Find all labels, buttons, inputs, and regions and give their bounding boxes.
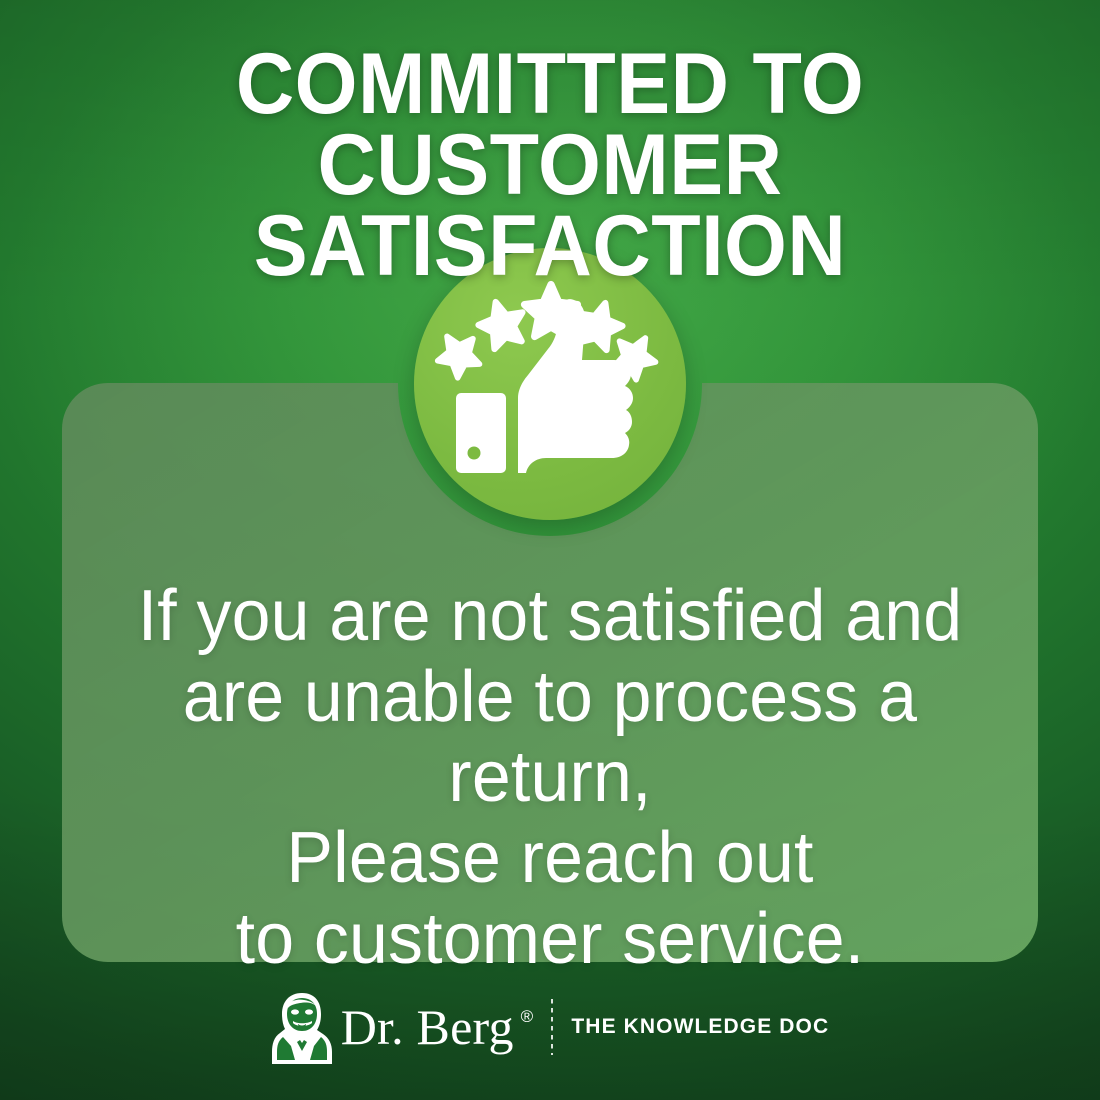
brand-name: Dr. Berg ® [341,1002,534,1052]
message-line-2: are unable to process a return, [84,657,1015,818]
poster-canvas: COMMITTED TO CUSTOMER SATISFACTION [0,0,1100,1100]
footer-divider [551,999,553,1055]
message-line-3: Please reach out [84,818,1015,899]
brand-name-text: Dr. Berg [341,1002,514,1052]
registered-trademark-icon: ® [521,1008,534,1025]
footer-brand-bar: Dr. Berg ® THE KNOWLEDGE DOC [0,988,1100,1066]
brand-tagline: THE KNOWLEDGE DOC [571,1015,829,1039]
page-title: COMMITTED TO CUSTOMER SATISFACTION [0,44,1100,286]
headline-line-1: COMMITTED TO [33,44,1067,125]
star-1 [429,325,486,382]
dr-berg-portrait-icon [271,990,333,1064]
headline-line-2: CUSTOMER SATISFACTION [33,125,1067,287]
message-line-4: to customer service. [84,899,1015,980]
message-text: If you are not satisfied and are unable … [70,576,1030,979]
message-line-1: If you are not satisfied and [84,576,1015,657]
